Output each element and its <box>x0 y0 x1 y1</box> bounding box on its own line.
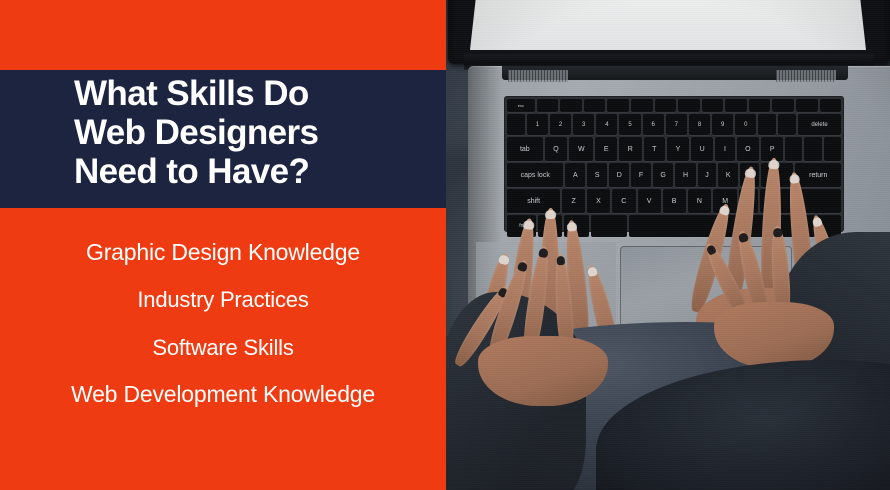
key-tab: tab <box>507 137 543 161</box>
key-g: G <box>653 163 674 187</box>
title-line-1: What Skills Do <box>74 74 434 113</box>
key-6: 6 <box>643 114 664 135</box>
fingernail <box>538 248 549 258</box>
laptop-speaker-left <box>508 70 568 82</box>
key-v: V <box>638 189 661 213</box>
fingernail <box>768 160 779 169</box>
key-f5 <box>631 99 653 112</box>
key-t: T <box>644 137 666 161</box>
right-hand-lower <box>714 232 864 352</box>
key-f8 <box>702 99 724 112</box>
key-y: Y <box>667 137 689 161</box>
fingernail <box>773 228 783 238</box>
fingernail <box>719 205 731 216</box>
fingernail <box>789 174 800 184</box>
fingernail <box>705 244 717 256</box>
key-f12 <box>796 99 818 112</box>
fingernail <box>523 220 535 230</box>
key-f11 <box>772 99 794 112</box>
key-f9 <box>725 99 747 112</box>
fingernail <box>556 256 566 266</box>
key-f7 <box>678 99 700 112</box>
skills-infographic-banner: esc 1 2 3 4 5 <box>0 0 890 490</box>
key-f10 <box>749 99 771 112</box>
key-f2 <box>560 99 582 112</box>
list-item: Web Development Knowledge <box>0 372 446 416</box>
key-q: Q <box>545 137 568 161</box>
list-item: Graphic Design Knowledge <box>0 228 446 276</box>
fingernail <box>811 216 823 227</box>
key-2: 2 <box>550 114 571 135</box>
page-title: What Skills Do Web Designers Need to Hav… <box>74 74 434 191</box>
key-b: B <box>663 189 686 213</box>
key-3: 3 <box>573 114 594 135</box>
title-line-2: Web Designers <box>74 113 434 152</box>
key-w: W <box>569 137 593 161</box>
key-tilde <box>507 114 525 135</box>
keyboard-function-row: esc <box>507 99 841 112</box>
laptop-screen <box>470 0 866 50</box>
list-item: Industry Practices <box>0 276 446 324</box>
key-f4 <box>607 99 629 112</box>
text-panel: What Skills Do Web Designers Need to Hav… <box>0 0 446 490</box>
fingernail <box>517 261 529 273</box>
key-e: E <box>595 137 617 161</box>
key-5: 5 <box>619 114 640 135</box>
list-item: Software Skills <box>0 324 446 372</box>
key-esc: esc <box>507 99 535 112</box>
key-r: R <box>619 137 641 161</box>
fingernail <box>566 222 577 232</box>
key-f6 <box>655 99 677 112</box>
key-7: 7 <box>666 114 687 135</box>
key-f3 <box>584 99 606 112</box>
key-4: 4 <box>596 114 617 135</box>
fingernail <box>545 210 556 219</box>
laptop-typing-photo: esc 1 2 3 4 5 <box>446 0 890 490</box>
key-power <box>820 99 842 112</box>
skills-list: Graphic Design Knowledge Industry Practi… <box>0 228 446 416</box>
fingernail <box>745 168 757 178</box>
left-hand-lower <box>474 240 634 370</box>
key-f1 <box>537 99 559 112</box>
fingernail <box>738 232 749 243</box>
title-line-3: Need to Have? <box>74 152 434 191</box>
key-1: 1 <box>527 114 548 135</box>
laptop-speaker-right <box>776 70 836 82</box>
